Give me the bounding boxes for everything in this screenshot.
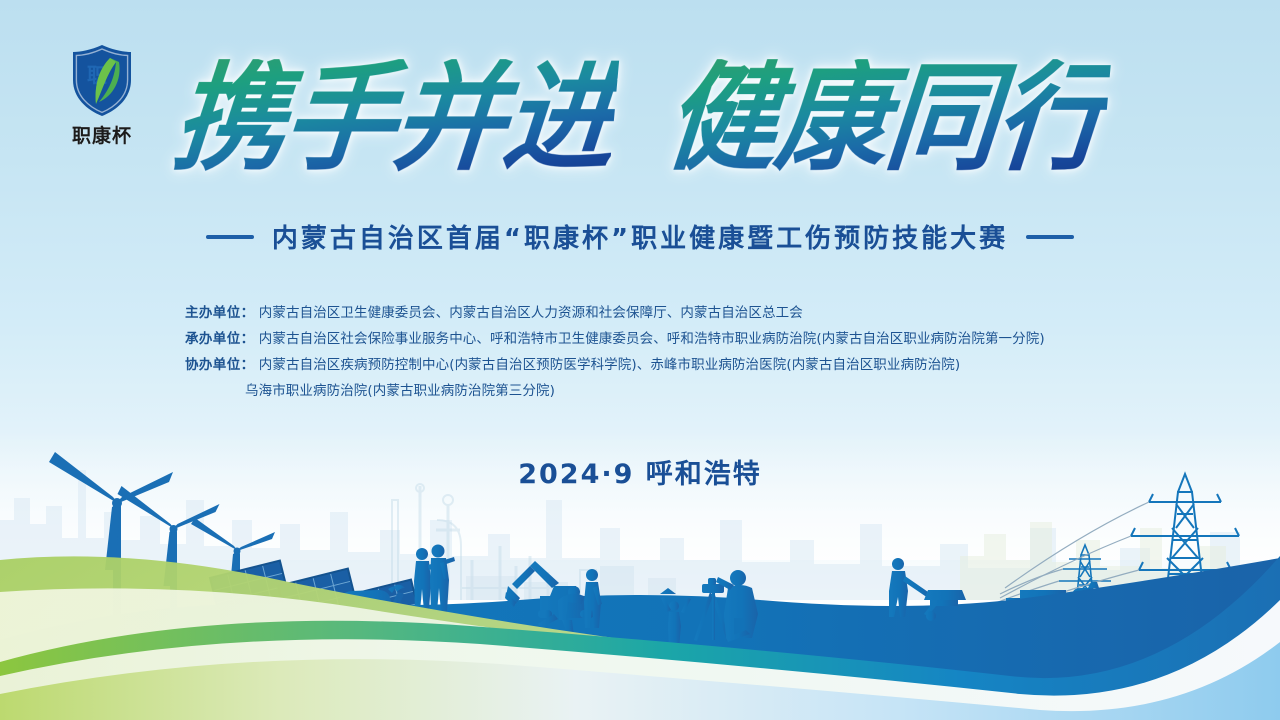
main-title: 携手并进 健康同行 bbox=[0, 62, 1280, 176]
poster-canvas: 职 职康杯 携手并进 健康同行 内蒙古自治区首届“职康杯”职业健康暨工伤预防技能… bbox=[0, 0, 1280, 720]
em-dash-rule-right bbox=[1026, 235, 1074, 239]
organizer-row-coorganizer: 协办单位： 内蒙古自治区疾病预防控制中心(内蒙古自治区预防医学科学院)、赤峰市职… bbox=[185, 352, 1185, 378]
organizer-list: 主办单位： 内蒙古自治区卫生健康委员会、内蒙古自治区人力资源和社会保障厅、内蒙古… bbox=[185, 300, 1185, 404]
organizer-label: 协办单位： bbox=[185, 357, 255, 373]
organizer-row-organizer: 承办单位： 内蒙古自治区社会保险事业服务中心、呼和浩特市卫生健康委员会、呼和浩特… bbox=[185, 326, 1185, 352]
organizer-value-continued: 乌海市职业病防治院(内蒙古职业病防治院第三分院) bbox=[245, 383, 555, 399]
organizer-value: 内蒙古自治区社会保险事业服务中心、呼和浩特市卫生健康委员会、呼和浩特市职业病防治… bbox=[259, 331, 1045, 347]
organizer-row-host: 主办单位： 内蒙古自治区卫生健康委员会、内蒙古自治区人力资源和社会保障厅、内蒙古… bbox=[185, 300, 1185, 326]
organizer-label: 承办单位： bbox=[185, 331, 255, 347]
main-title-part1: 携手并进 bbox=[168, 59, 618, 179]
subtitle-row: 内蒙古自治区首届“职康杯”职业健康暨工伤预防技能大赛 bbox=[0, 218, 1280, 255]
date-place-text: 2024·9 呼和浩特 bbox=[0, 452, 1280, 491]
subtitle-text: 内蒙古自治区首届“职康杯”职业健康暨工伤预防技能大赛 bbox=[272, 218, 1008, 255]
organizer-value: 内蒙古自治区疾病预防控制中心(内蒙古自治区预防医学科学院)、赤峰市职业病防治医院… bbox=[259, 357, 960, 373]
main-title-part2: 健康同行 bbox=[661, 59, 1111, 179]
organizer-row-continuation: 乌海市职业病防治院(内蒙古职业病防治院第三分院) bbox=[185, 378, 1185, 404]
em-dash-rule-left bbox=[206, 235, 254, 239]
organizer-label: 主办单位： bbox=[185, 305, 255, 321]
organizer-value: 内蒙古自治区卫生健康委员会、内蒙古自治区人力资源和社会保障厅、内蒙古自治区总工会 bbox=[259, 305, 803, 321]
